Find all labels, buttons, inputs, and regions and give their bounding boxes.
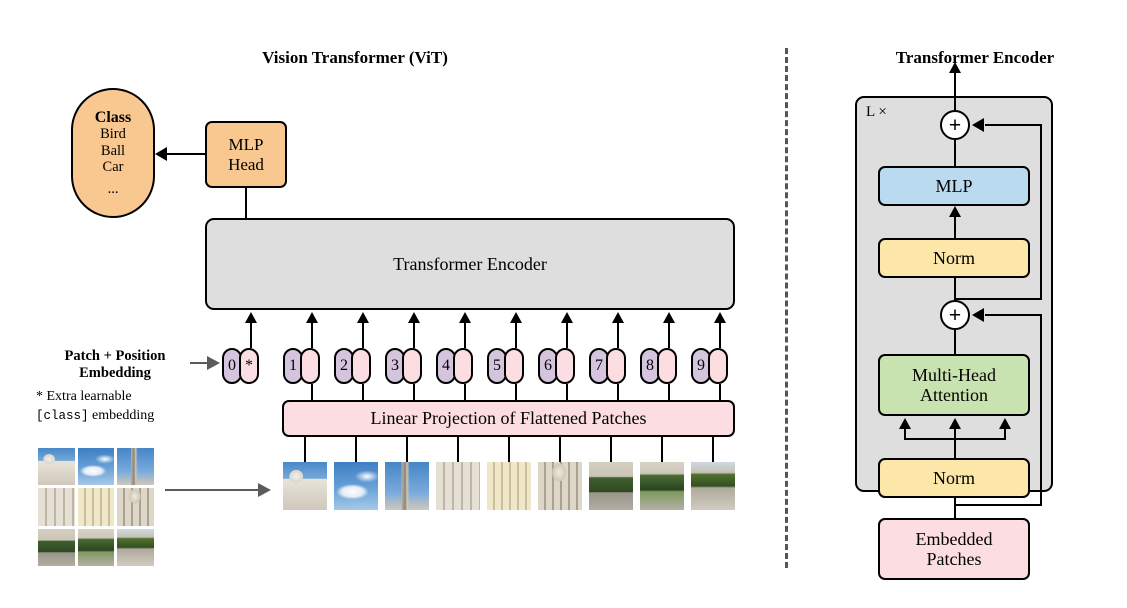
attention-line2: Attention	[920, 385, 988, 405]
token-arrow-head-5	[510, 312, 522, 323]
norm-bottom-to-qkv-line	[954, 438, 956, 460]
class-item-car: Car	[103, 159, 124, 175]
token-arrow-head-6	[561, 312, 573, 323]
patch-embedding-pill-9	[708, 348, 728, 384]
token-arrow-stem-5	[515, 321, 517, 348]
token-1: 1	[283, 348, 320, 384]
patch-embedding-pill-5	[504, 348, 524, 384]
linear-projection-box: Linear Projection of Flattened Patches	[282, 400, 735, 437]
patch-embedding-pill-6	[555, 348, 575, 384]
mlp-to-add-line	[954, 140, 956, 168]
repeat-count-label: L ×	[866, 104, 887, 121]
residual-bottom-horizontal-out	[954, 504, 1042, 506]
footnote-line1: * Extra learnable	[36, 388, 216, 407]
patch-embedding-pill-4	[453, 348, 473, 384]
class-output-box: Class Bird Ball Car ...	[71, 88, 155, 218]
mlp-head-line2: Head	[228, 155, 264, 174]
source-grid-cell-7	[38, 529, 75, 566]
projection-patch-line-7	[610, 437, 612, 462]
projection-patch-line-8	[661, 437, 663, 462]
token-arrow-head-2	[357, 312, 369, 323]
norm-bottom-label: Norm	[933, 468, 975, 488]
residual-bottom-riser	[1040, 314, 1042, 506]
transformer-encoder-box: Transformer Encoder	[205, 218, 735, 310]
residual-bottom-arrowhead	[972, 308, 984, 322]
residual-add-bottom-symbol: +	[949, 305, 961, 326]
token-arrow-stem-7	[617, 321, 619, 348]
token-projection-line-5	[515, 384, 517, 401]
mlp-head-to-encoder-line	[245, 188, 247, 218]
class-heading: Class	[95, 109, 131, 127]
left-panel-title: Vision Transformer (ViT)	[150, 48, 560, 68]
residual-top-horizontal-out	[954, 298, 1042, 300]
residual-top-horizontal-in	[985, 124, 1042, 126]
patch-embedding-pill-3	[402, 348, 422, 384]
token-4: 4	[436, 348, 473, 384]
token-arrow-stem-4	[464, 321, 466, 348]
class-item-ball: Ball	[101, 143, 125, 159]
projection-patch-line-9	[712, 437, 714, 462]
token-9: 9	[691, 348, 728, 384]
token-arrow-stem-9	[719, 321, 721, 348]
mlp-head-box: MLP Head	[205, 121, 287, 188]
token-arrow-stem-6	[566, 321, 568, 348]
qkv-arrow-right-stem	[1004, 428, 1006, 440]
projection-patch-line-5	[508, 437, 510, 462]
source-grid-cell-4	[38, 488, 75, 525]
image-patch-1	[283, 462, 327, 510]
embedded-patches-line2: Patches	[927, 549, 982, 569]
image-patch-9	[691, 462, 735, 510]
embedding-label-line2: Embedding	[40, 365, 190, 382]
mlp-head-to-class-arrowhead	[155, 147, 167, 161]
mlp-block-label: MLP	[935, 176, 972, 196]
token-arrow-stem-1	[311, 321, 313, 348]
projection-patch-line-3	[406, 437, 408, 462]
norm-bottom-block: Norm	[878, 458, 1030, 498]
mlp-head-to-class-line	[167, 153, 207, 155]
token-3: 3	[385, 348, 422, 384]
qkv-arrow-mid-head	[949, 418, 961, 429]
token-projection-line-7	[617, 384, 619, 401]
patch-embedding-pill-2	[351, 348, 371, 384]
token-arrow-head-3	[408, 312, 420, 323]
attention-to-add-line	[954, 330, 956, 356]
attention-block: Multi-Head Attention	[878, 354, 1030, 416]
class-item-bird: Bird	[100, 126, 126, 142]
qkv-arrow-left-head	[899, 418, 911, 429]
source-grid-cell-2	[78, 448, 115, 485]
source-grid-cell-1	[38, 448, 75, 485]
footnote-class-token: [class]	[36, 409, 89, 423]
residual-add-top-symbol: +	[949, 115, 961, 136]
token-2: 2	[334, 348, 371, 384]
embedding-label-arrowhead	[207, 356, 220, 370]
patch-embedding-pill-7	[606, 348, 626, 384]
class-ellipsis: ...	[108, 181, 119, 197]
residual-top-stem	[954, 278, 956, 300]
mlp-head-line1: MLP	[229, 135, 264, 154]
footnote-line2-tail: embedding	[89, 408, 155, 423]
token-arrow-head-1	[306, 312, 318, 323]
embedded-patches-line1: Embedded	[916, 529, 993, 549]
embedded-patches-block: Embedded Patches	[878, 518, 1030, 580]
transformer-encoder-label: Transformer Encoder	[393, 254, 547, 274]
token-arrow-head-7	[612, 312, 624, 323]
token-arrow-head-0	[245, 312, 257, 323]
image-patch-6	[538, 462, 582, 510]
norm-top-block: Norm	[878, 238, 1030, 278]
residual-add-top: +	[940, 110, 970, 140]
image-patch-8	[640, 462, 684, 510]
linear-projection-label: Linear Projection of Flattened Patches	[371, 408, 647, 428]
panel-divider	[785, 48, 788, 568]
token-projection-line-4	[464, 384, 466, 401]
image-patch-4	[436, 462, 480, 510]
residual-top-riser	[1040, 124, 1042, 300]
token-projection-line-3	[413, 384, 415, 401]
grid-to-patches-arrowhead	[258, 483, 271, 497]
token-7: 7	[589, 348, 626, 384]
norm-top-to-mlp-arrowhead	[949, 206, 961, 217]
token-arrow-stem-8	[668, 321, 670, 348]
token-0: 0*	[222, 348, 259, 384]
attention-line1: Multi-Head	[912, 365, 996, 385]
source-grid-cell-5	[78, 488, 115, 525]
token-arrow-head-9	[714, 312, 726, 323]
encoder-output-line	[954, 70, 956, 110]
patch-embedding-pill-8	[657, 348, 677, 384]
right-panel-title: Transformer Encoder	[830, 48, 1120, 68]
token-6: 6	[538, 348, 575, 384]
token-projection-line-1	[311, 384, 313, 401]
projection-patch-line-2	[355, 437, 357, 462]
image-patch-3	[385, 462, 429, 510]
token-5: 5	[487, 348, 524, 384]
token-projection-line-8	[668, 384, 670, 401]
token-arrow-head-8	[663, 312, 675, 323]
patch-embedding-pill-1	[300, 348, 320, 384]
token-8: 8	[640, 348, 677, 384]
residual-top-arrowhead	[972, 118, 984, 132]
token-arrow-stem-0	[250, 321, 252, 348]
norm-top-label: Norm	[933, 248, 975, 268]
source-grid-cell-3	[117, 448, 154, 485]
image-patch-2	[334, 462, 378, 510]
extra-learnable-footnote: * Extra learnable [class] embedding	[36, 388, 216, 426]
source-grid-cell-8	[78, 529, 115, 566]
qkv-arrow-right-head	[999, 418, 1011, 429]
source-grid-cell-6	[117, 488, 154, 525]
token-arrow-stem-3	[413, 321, 415, 348]
image-patch-5	[487, 462, 531, 510]
residual-add-bottom: +	[940, 300, 970, 330]
projection-patch-line-6	[559, 437, 561, 462]
token-arrow-stem-2	[362, 321, 364, 348]
grid-to-patches-line	[165, 489, 260, 491]
embedding-label-line1: Patch + Position	[40, 348, 190, 365]
token-projection-line-6	[566, 384, 568, 401]
class-token-pill: *	[239, 348, 259, 384]
mlp-block: MLP	[878, 166, 1030, 206]
encoder-output-arrowhead	[949, 62, 961, 73]
projection-patch-line-4	[457, 437, 459, 462]
image-patch-7	[589, 462, 633, 510]
source-image-grid	[38, 448, 154, 566]
patch-position-embedding-label: Patch + Position Embedding	[40, 348, 190, 383]
projection-patch-line-1	[304, 437, 306, 462]
token-projection-line-9	[719, 384, 721, 401]
residual-bottom-horizontal-in	[985, 314, 1042, 316]
token-projection-line-2	[362, 384, 364, 401]
source-grid-cell-9	[117, 529, 154, 566]
token-arrow-head-4	[459, 312, 471, 323]
qkv-arrow-left-stem	[904, 428, 906, 440]
